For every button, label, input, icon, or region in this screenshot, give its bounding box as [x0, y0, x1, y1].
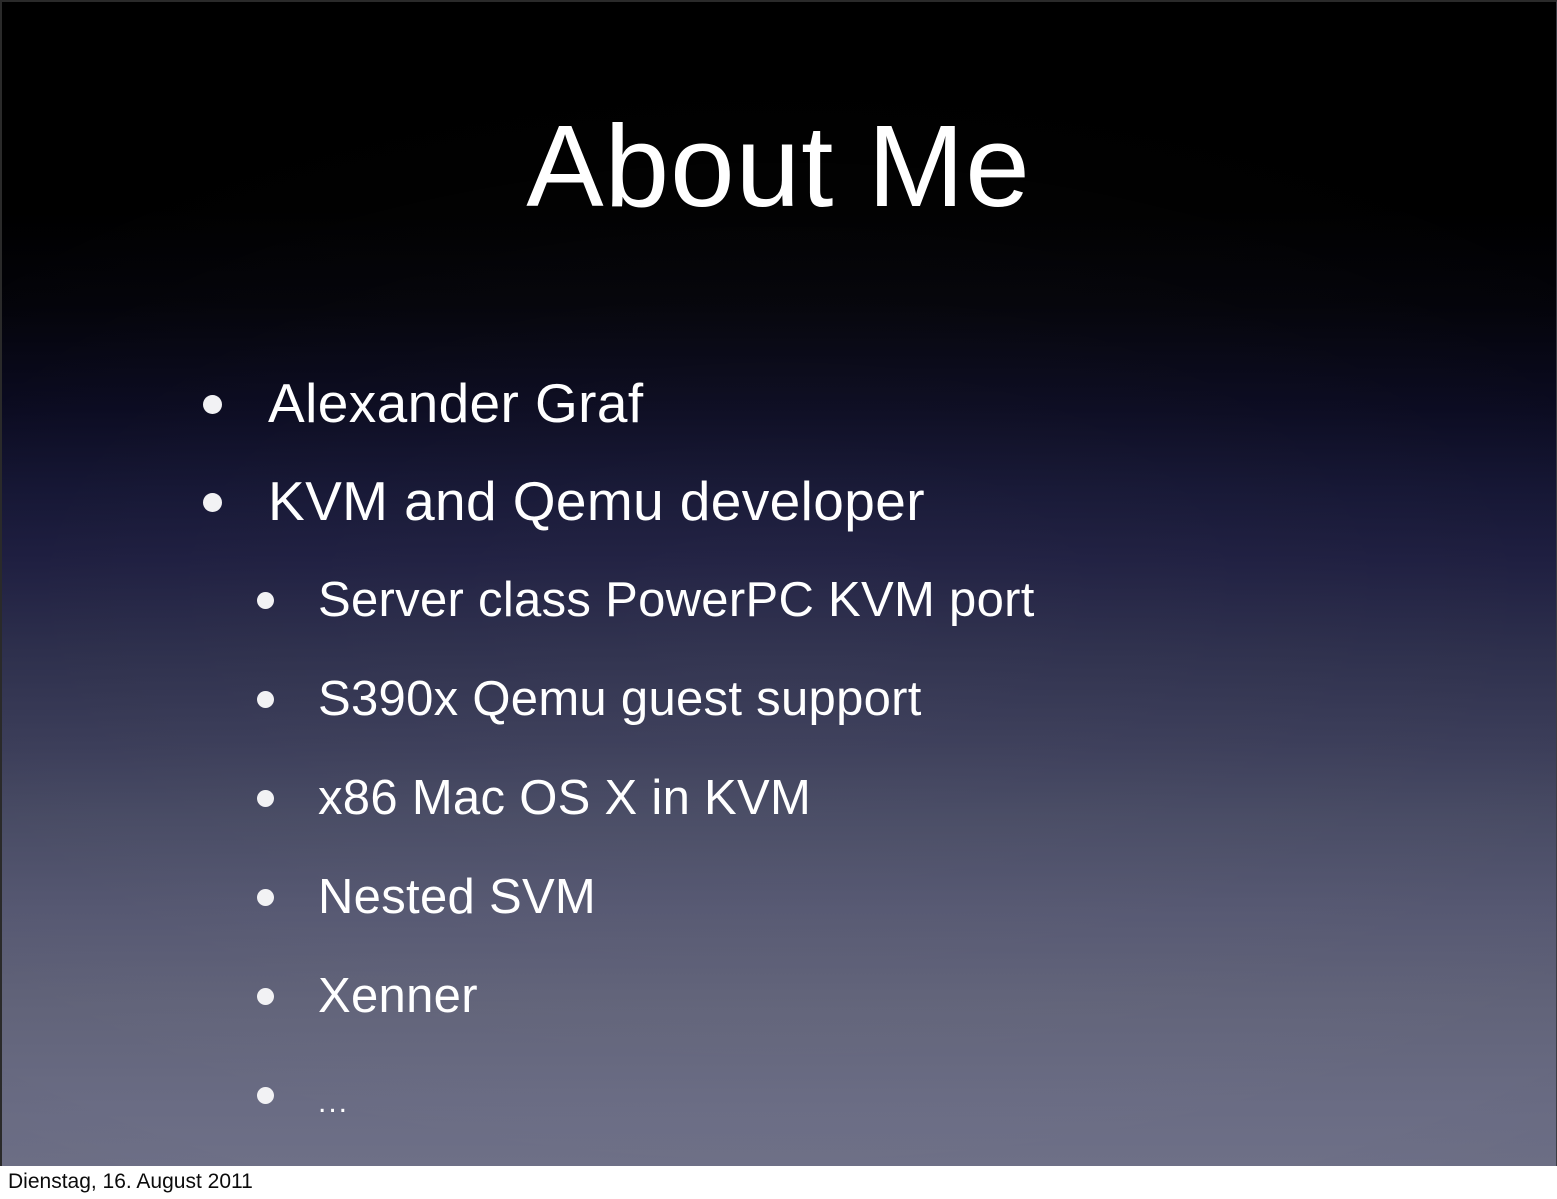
list-item-label: Server class PowerPC KVM port — [318, 575, 1035, 626]
list-item: S390x Qemu guest support — [0, 650, 1557, 749]
bullet-dot-icon — [203, 493, 222, 512]
list-item: Xenner — [0, 947, 1557, 1046]
list-item-label: Xenner — [318, 971, 478, 1022]
list-item: Nested SVM — [0, 848, 1557, 947]
bullet-dot-icon — [257, 1087, 274, 1104]
footer-date-label: Dienstag, 16. August 2011 — [8, 1170, 253, 1194]
bullet-dot-icon — [257, 889, 274, 906]
bullet-dot-icon — [203, 395, 222, 414]
list-item-label: ... — [318, 1087, 349, 1119]
bullet-dot-icon — [257, 988, 274, 1005]
bullet-dot-icon — [257, 592, 274, 609]
page-title: About Me — [0, 108, 1557, 224]
list-item-label: Alexander Graf — [268, 375, 644, 433]
list-item: x86 Mac OS X in KVM — [0, 749, 1557, 848]
footer-bar: Dienstag, 16. August 2011 — [0, 1166, 1557, 1199]
list-item: Alexander Graf — [0, 355, 1557, 453]
list-item: Server class PowerPC KVM port — [0, 551, 1557, 650]
list-item: ... — [0, 1046, 1557, 1145]
bullet-list: Alexander Graf KVM and Qemu developer Se… — [0, 355, 1557, 1145]
bullet-dot-icon — [257, 691, 274, 708]
list-item-label: KVM and Qemu developer — [268, 473, 925, 531]
list-item-label: x86 Mac OS X in KVM — [318, 773, 811, 824]
list-item-label: Nested SVM — [318, 872, 596, 923]
list-item-label: S390x Qemu guest support — [318, 674, 922, 725]
presentation-slide: About Me Alexander Graf KVM and Qemu dev… — [0, 0, 1557, 1166]
bullet-dot-icon — [257, 790, 274, 807]
list-item: KVM and Qemu developer — [0, 453, 1557, 551]
slide-content: About Me Alexander Graf KVM and Qemu dev… — [0, 0, 1557, 1166]
